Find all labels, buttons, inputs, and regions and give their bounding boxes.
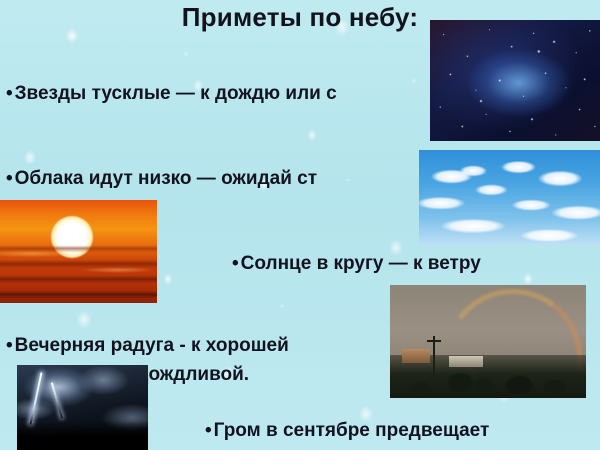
bullet-item-thunder: •Гром в сентябре предвещает bbox=[205, 420, 489, 442]
starry-sky-photo bbox=[430, 20, 600, 141]
lightning-bolt-icon bbox=[30, 372, 43, 424]
blue-sky-clouds-photo bbox=[419, 150, 600, 245]
bullet-text-stars: Звезды тусклые — к дождю или с bbox=[15, 83, 337, 104]
sun-disc-icon bbox=[51, 216, 93, 258]
bullet-marker-icon: • bbox=[232, 253, 239, 275]
sunset-photo bbox=[0, 200, 157, 303]
bullet-marker-icon: • bbox=[6, 83, 13, 105]
bullet-item-rainbow: •Вечерняя радуга - к хорошей bbox=[6, 335, 289, 357]
bullet-text-sun-halo: Солнце в кругу — к ветру bbox=[241, 253, 481, 274]
bullet-text-clouds: Облака идут низко — ожидай ст bbox=[15, 168, 317, 189]
rainbow-photo bbox=[390, 285, 586, 398]
lightning-storm-photo bbox=[17, 365, 148, 450]
bullet-text-rainbow: Вечерняя радуга - к хорошей bbox=[15, 335, 289, 356]
bullet-marker-icon: • bbox=[205, 420, 212, 442]
storm-photo-horizon-silhouette bbox=[17, 421, 148, 450]
lightning-bolt-secondary-icon bbox=[51, 383, 63, 419]
bullet-marker-icon: • bbox=[6, 335, 13, 357]
bullet-item-stars: •Звезды тусклые — к дождю или с bbox=[6, 83, 337, 105]
bullet-text-thunder: Гром в сентябре предвещает bbox=[214, 420, 490, 441]
rainbow-photo-house bbox=[402, 349, 430, 363]
slide-canvas: Приметы по небу: •Звезды тусклые — к дож… bbox=[0, 0, 600, 450]
bullet-item-sun-halo: •Солнце в кругу — к ветру bbox=[232, 253, 481, 275]
bullet-marker-icon: • bbox=[6, 168, 13, 190]
rainbow-photo-house-secondary bbox=[449, 356, 483, 367]
rainbow-photo-utility-pole bbox=[433, 336, 435, 383]
bullet-item-clouds: •Облака идут низко — ожидай ст bbox=[6, 168, 317, 190]
